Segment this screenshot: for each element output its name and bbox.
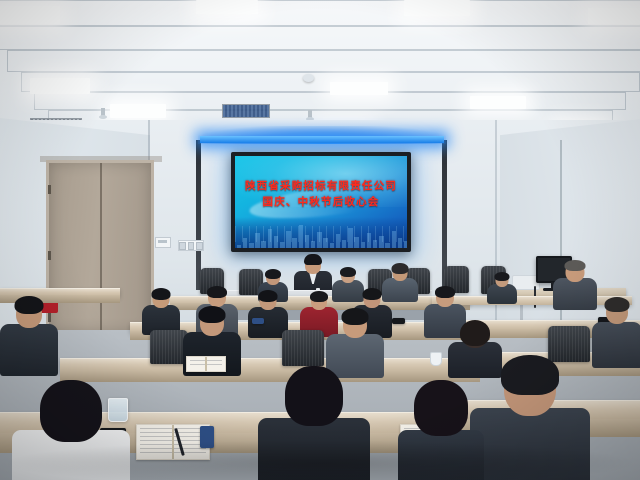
foreground-shadow <box>0 440 640 480</box>
light-switch-icon[interactable] <box>178 240 204 251</box>
attendee-hair <box>259 290 278 302</box>
display-building <box>280 242 284 248</box>
ceiling-panel-light <box>404 0 470 16</box>
presenter-hair <box>304 254 322 265</box>
attendee <box>487 273 517 301</box>
attendee-hair <box>199 306 226 323</box>
attendee-hair <box>605 297 630 312</box>
smoke-detector-icon <box>303 74 314 82</box>
display-building <box>330 243 334 248</box>
door-hinge-middle <box>48 251 51 260</box>
slide-title-line2: 国庆、中秋节后收心会 <box>235 194 407 210</box>
attendee-hair <box>342 308 369 325</box>
thermostat-icon[interactable] <box>155 237 171 248</box>
wall-mullion-left <box>196 140 201 290</box>
ceiling-panel-light <box>470 96 526 109</box>
smartphone[interactable] <box>392 318 405 324</box>
display-building <box>249 243 253 248</box>
attendee-torso <box>0 324 58 376</box>
led-display[interactable]: 陕西省采购招标有限责任公司 国庆、中秋节后收心会 <box>231 152 411 252</box>
display-building <box>237 245 241 248</box>
attendee <box>142 290 180 334</box>
paper-cup[interactable] <box>430 352 442 366</box>
notebook-spine <box>205 357 207 371</box>
ceiling-tile-row <box>7 50 640 72</box>
attendee-hair <box>310 291 328 302</box>
attendee-hair <box>340 267 356 277</box>
door-seam <box>100 163 102 332</box>
ceiling-led-strip-front <box>200 136 444 143</box>
attendee <box>326 312 384 374</box>
attendee-hair <box>392 263 409 274</box>
attendee <box>592 300 640 366</box>
notebook[interactable] <box>186 356 226 372</box>
ceiling-panel-light <box>196 0 258 14</box>
display-surface: 陕西省采购招标有限责任公司 国庆、中秋节后收心会 <box>235 156 407 248</box>
attendee-hair <box>152 288 171 300</box>
chair[interactable] <box>282 330 324 366</box>
attendee-hair-bun <box>460 320 490 346</box>
attendee-hair <box>435 286 455 298</box>
display-line-pattern <box>235 226 407 243</box>
attendee-hair <box>501 355 559 395</box>
attendee-torso <box>487 284 517 304</box>
ceiling-panel-light <box>330 82 388 95</box>
attendee-hair <box>15 296 44 314</box>
attendee-torso <box>553 278 597 310</box>
attendee-hair <box>40 380 102 442</box>
ceiling-panel-light <box>588 8 640 24</box>
attendee-torso <box>592 322 640 368</box>
switch-rocker-2[interactable] <box>188 242 195 250</box>
attendee-av-operator <box>553 262 597 308</box>
phone-case-blue[interactable] <box>252 318 264 324</box>
slide-title: 陕西省采购招标有限责任公司 国庆、中秋节后收心会 <box>235 178 407 211</box>
attendee <box>248 292 288 336</box>
air-vent-icon <box>222 104 270 118</box>
slide-title-line1: 陕西省采购招标有限责任公司 <box>235 178 407 194</box>
sprinkler-icon <box>101 108 105 117</box>
attendee-hair <box>207 286 227 298</box>
switch-rocker-1[interactable] <box>179 242 186 250</box>
attendee-hair <box>565 260 586 271</box>
meeting-room-photo: 陕西省采购招标有限责任公司 国庆、中秋节后收心会 <box>0 0 640 480</box>
attendee-hair <box>414 380 468 436</box>
display-building <box>361 242 365 248</box>
chair[interactable] <box>548 326 590 362</box>
sprinkler-icon <box>308 110 312 119</box>
attendee-hair <box>285 366 343 426</box>
ceiling-tile-row <box>0 0 640 26</box>
double-door[interactable] <box>46 160 154 335</box>
ceiling-panel-light <box>0 6 60 24</box>
switch-rocker-3[interactable] <box>196 242 203 250</box>
door-hinge-top <box>48 185 51 194</box>
ceiling-panel-light <box>30 78 90 94</box>
attendee <box>0 300 58 372</box>
display-building <box>385 243 389 248</box>
attendee-hair <box>495 272 510 281</box>
attendee-hair <box>363 288 382 300</box>
ceiling-panel-light <box>110 104 166 118</box>
ceiling-tile-row <box>0 26 640 50</box>
attendee-hair <box>265 269 281 279</box>
